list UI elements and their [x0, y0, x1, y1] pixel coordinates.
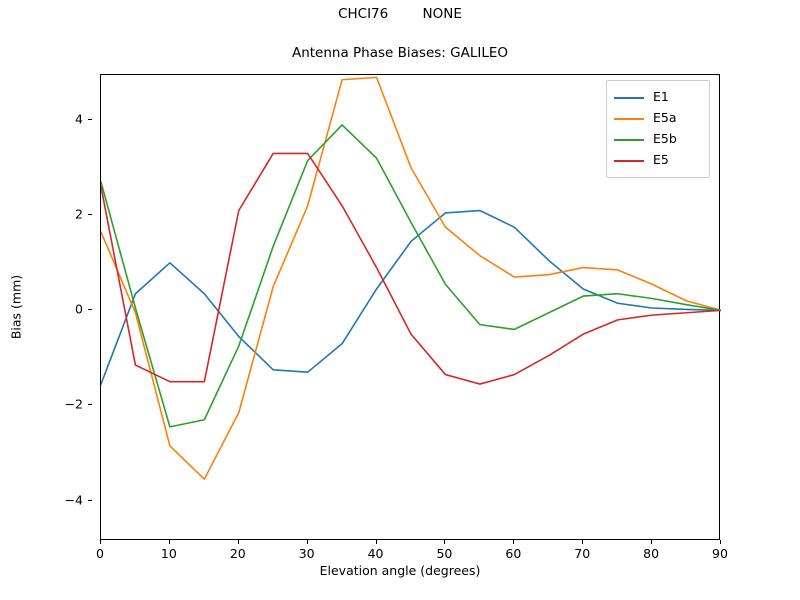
x-tick-mark	[444, 540, 445, 544]
x-tick-mark	[307, 540, 308, 544]
x-tick-label: 10	[161, 546, 177, 561]
x-tick-label: 70	[574, 546, 590, 561]
x-tick-label: 50	[436, 546, 452, 561]
legend-entry-e5b[interactable]: E5b	[614, 129, 702, 150]
y-tick-mark	[88, 309, 92, 310]
x-tick-mark	[582, 540, 583, 544]
figure-suptitle: CHCI76 NONE	[0, 6, 800, 22]
x-tick-mark	[169, 540, 170, 544]
legend-entry-e5a[interactable]: E5a	[614, 108, 702, 129]
series-line-e1	[101, 211, 721, 385]
legend-label: E5	[653, 154, 669, 167]
x-tick-label: 40	[368, 546, 384, 561]
x-tick-mark	[720, 540, 721, 544]
legend-entry-e1[interactable]: E1	[614, 87, 702, 108]
legend-label: E1	[653, 91, 669, 104]
x-tick-label: 80	[643, 546, 659, 561]
x-tick-label: 90	[712, 546, 728, 561]
legend-label: E5b	[653, 133, 677, 146]
x-axis-ticks: 0102030405060708090	[100, 540, 720, 564]
figure-canvas: CHCI76 NONE Antenna Phase Biases: GALILE…	[0, 0, 800, 600]
x-tick-label: 20	[230, 546, 246, 561]
y-tick-mark	[88, 500, 92, 501]
y-tick-mark	[88, 214, 92, 215]
x-axis-label: Elevation angle (degrees)	[0, 563, 800, 578]
x-tick-mark	[376, 540, 377, 544]
x-tick-label: 30	[299, 546, 315, 561]
x-tick-label: 60	[505, 546, 521, 561]
series-line-e5	[101, 153, 721, 384]
chart-legend: E1E5aE5bE5	[606, 80, 710, 178]
legend-label: E5a	[653, 112, 677, 125]
y-tick-label: −2	[65, 397, 83, 412]
legend-swatch-e5	[614, 160, 644, 162]
x-tick-mark	[238, 540, 239, 544]
y-axis-label: Bias (mm)	[9, 275, 24, 339]
y-tick-label: 2	[75, 207, 83, 222]
legend-entry-e5[interactable]: E5	[614, 150, 702, 171]
y-tick-label: 0	[75, 302, 83, 317]
legend-swatch-e5a	[614, 118, 644, 120]
x-tick-label: 0	[96, 546, 104, 561]
chart-title: Antenna Phase Biases: GALILEO	[0, 45, 800, 61]
legend-swatch-e1	[614, 97, 644, 99]
x-tick-mark	[100, 540, 101, 544]
y-axis-ticks: −4−2024	[62, 74, 92, 540]
y-tick-mark	[88, 404, 92, 405]
legend-swatch-e5b	[614, 139, 644, 141]
x-tick-mark	[513, 540, 514, 544]
y-tick-label: 4	[75, 112, 83, 127]
y-tick-mark	[88, 119, 92, 120]
x-tick-mark	[651, 540, 652, 544]
y-tick-label: −4	[65, 492, 83, 507]
